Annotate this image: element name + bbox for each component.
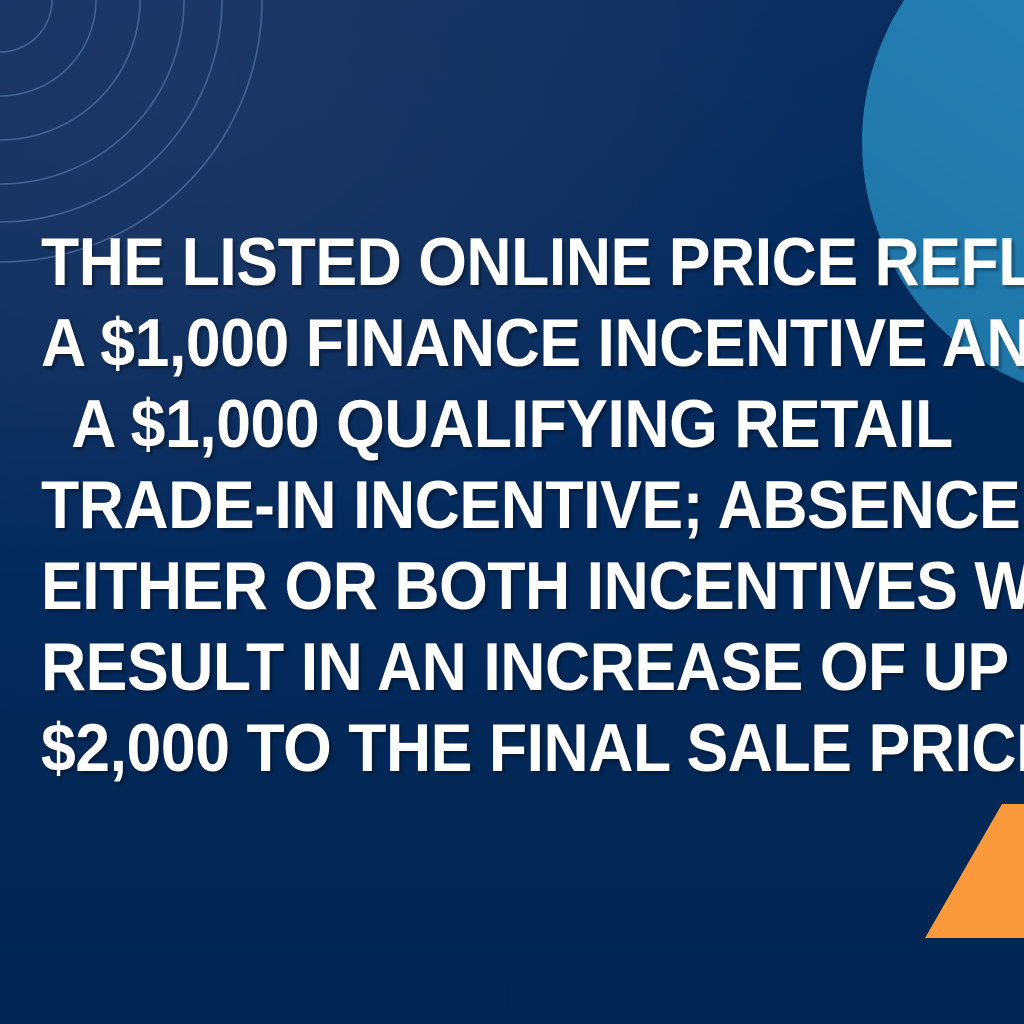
- disclaimer-line: TRADE-IN INCENTIVE; ABSENCE OF: [41, 465, 983, 546]
- disclaimer-line: THE LISTED ONLINE PRICE REFLECTS: [41, 222, 983, 303]
- disclaimer-line: $2,000 TO THE FINAL SALE PRICE.: [41, 708, 983, 789]
- disclaimer-line: RESULT IN AN INCREASE OF UP TO: [41, 627, 983, 708]
- disclaimer-line: EITHER OR BOTH INCENTIVES WILL: [41, 546, 983, 627]
- disclaimer-line: A $1,000 QUALIFYING RETAIL: [41, 384, 983, 465]
- disclaimer-text: THE LISTED ONLINE PRICE REFLECTS A $1,00…: [41, 222, 983, 789]
- disclaimer-line: A $1,000 FINANCE INCENTIVE AND: [41, 303, 983, 384]
- promo-disclaimer-card: THE LISTED ONLINE PRICE REFLECTS A $1,00…: [0, 0, 1024, 1024]
- orange-triangle-shape: [925, 804, 1024, 938]
